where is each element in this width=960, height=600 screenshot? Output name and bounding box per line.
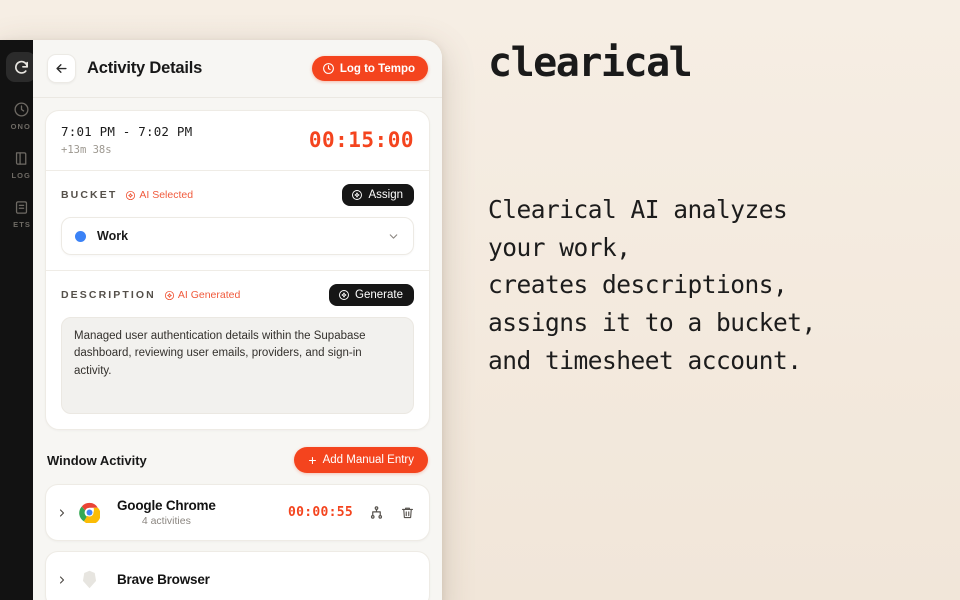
app-logo[interactable]	[6, 52, 33, 82]
window-activity-header: Window Activity + Add Manual Entry	[47, 447, 428, 473]
sidebar-item-buckets[interactable]: ETS	[0, 197, 33, 229]
description-textarea[interactable]: Managed user authentication details with…	[61, 317, 414, 414]
clock-icon	[322, 62, 335, 75]
sidebar-item-chrono[interactable]: ONO	[0, 99, 33, 131]
row-duration: 00:00:55	[288, 505, 353, 520]
marketing-tagline: Clearical AI analyzes your work, creates…	[488, 191, 960, 380]
time-range: 7:01 PM - 7:02 PM	[61, 124, 192, 139]
tagline-line: assigns it to a bucket,	[488, 304, 960, 342]
bucket-section: BUCKET AI Selected	[46, 171, 429, 270]
table-row[interactable]: Google Chrome 4 activities 00:00:55	[45, 484, 430, 541]
chevron-right-icon[interactable]	[56, 507, 70, 519]
table-cell-app: Google Chrome 4 activities	[117, 498, 216, 527]
marketing-panel: clearical Clearical AI analyzes your wor…	[488, 0, 960, 600]
chrome-icon	[78, 502, 100, 524]
back-button[interactable]	[47, 54, 76, 83]
add-manual-entry-label: Add Manual Entry	[323, 454, 414, 466]
chevron-down-icon	[387, 230, 400, 243]
clock-icon	[11, 99, 31, 119]
tagline-line: Clearical AI analyzes	[488, 191, 960, 229]
app-window: ONO LOG ETS 3	[0, 40, 442, 600]
tagline-line: your work,	[488, 229, 960, 267]
sidebar-item-label: ONO	[11, 122, 31, 131]
sidebar-item-label: LOG	[11, 171, 31, 180]
activity-detail-card: 7:01 PM - 7:02 PM +13m 38s 00:15:00 BUCK…	[45, 110, 430, 430]
app-header: Activity Details Log to Tempo	[33, 40, 442, 98]
generate-button[interactable]: Generate	[329, 284, 414, 306]
app-name: Brave Browser	[117, 572, 210, 587]
add-manual-entry-button[interactable]: + Add Manual Entry	[294, 447, 428, 473]
ai-selected-label: AI Selected	[139, 189, 193, 201]
sidebar-rail: ONO LOG ETS 3	[0, 40, 33, 600]
log-to-tempo-button[interactable]: Log to Tempo	[312, 56, 428, 81]
trash-icon[interactable]	[400, 505, 415, 520]
panel-body: 7:01 PM - 7:02 PM +13m 38s 00:15:00 BUCK…	[33, 98, 442, 600]
ai-sparkle-icon	[125, 190, 136, 201]
brave-icon	[78, 569, 100, 591]
ai-sparkle-icon	[351, 189, 363, 201]
log-to-tempo-label: Log to Tempo	[340, 63, 415, 75]
bucket-section-label: BUCKET	[61, 189, 117, 201]
arrow-left-icon	[54, 61, 69, 76]
plus-icon: +	[308, 453, 316, 467]
bucket-icon	[11, 197, 31, 217]
clearical-logo-icon	[13, 59, 30, 76]
description-section-label: DESCRIPTION	[61, 289, 156, 301]
total-duration: 00:15:00	[309, 128, 414, 152]
sidebar-item-log[interactable]: LOG	[0, 148, 33, 180]
activity-count: 4 activities	[117, 515, 216, 527]
generate-label: Generate	[355, 289, 403, 301]
ai-selected-badge: AI Selected	[125, 189, 193, 201]
split-icon[interactable]	[369, 505, 384, 520]
chevron-right-icon[interactable]	[56, 574, 70, 586]
tagline-line: and timesheet account.	[488, 342, 960, 380]
bucket-selected-value: Work	[97, 229, 128, 243]
description-section-header: DESCRIPTION AI Generated	[61, 284, 414, 306]
brand-wordmark: clearical	[488, 40, 960, 86]
sidebar-item-label: ETS	[13, 220, 31, 229]
page-title: Activity Details	[87, 59, 202, 78]
assign-label: Assign	[368, 189, 403, 201]
ai-sparkle-icon	[164, 290, 175, 301]
time-summary-row: 7:01 PM - 7:02 PM +13m 38s 00:15:00	[46, 111, 429, 170]
ai-generated-badge: AI Generated	[164, 289, 240, 301]
ai-generated-label: AI Generated	[178, 289, 240, 301]
app-name: Google Chrome	[117, 498, 216, 513]
table-row[interactable]: Brave Browser	[45, 551, 430, 600]
time-offset: +13m 38s	[61, 144, 192, 156]
bucket-section-header: BUCKET AI Selected	[61, 184, 414, 206]
description-section: DESCRIPTION AI Generated	[46, 271, 429, 429]
table-cell-app: Brave Browser	[117, 572, 210, 587]
tagline-line: creates descriptions,	[488, 266, 960, 304]
window-activity-title: Window Activity	[47, 453, 147, 468]
assign-button[interactable]: Assign	[342, 184, 414, 206]
ai-sparkle-icon	[338, 289, 350, 301]
bucket-color-dot	[75, 231, 86, 242]
book-icon	[11, 148, 31, 168]
bucket-select[interactable]: Work	[61, 217, 414, 255]
page-background: ONO LOG ETS 3	[0, 0, 960, 600]
main-panel: Activity Details Log to Tempo 7:01 PM - …	[33, 40, 442, 600]
